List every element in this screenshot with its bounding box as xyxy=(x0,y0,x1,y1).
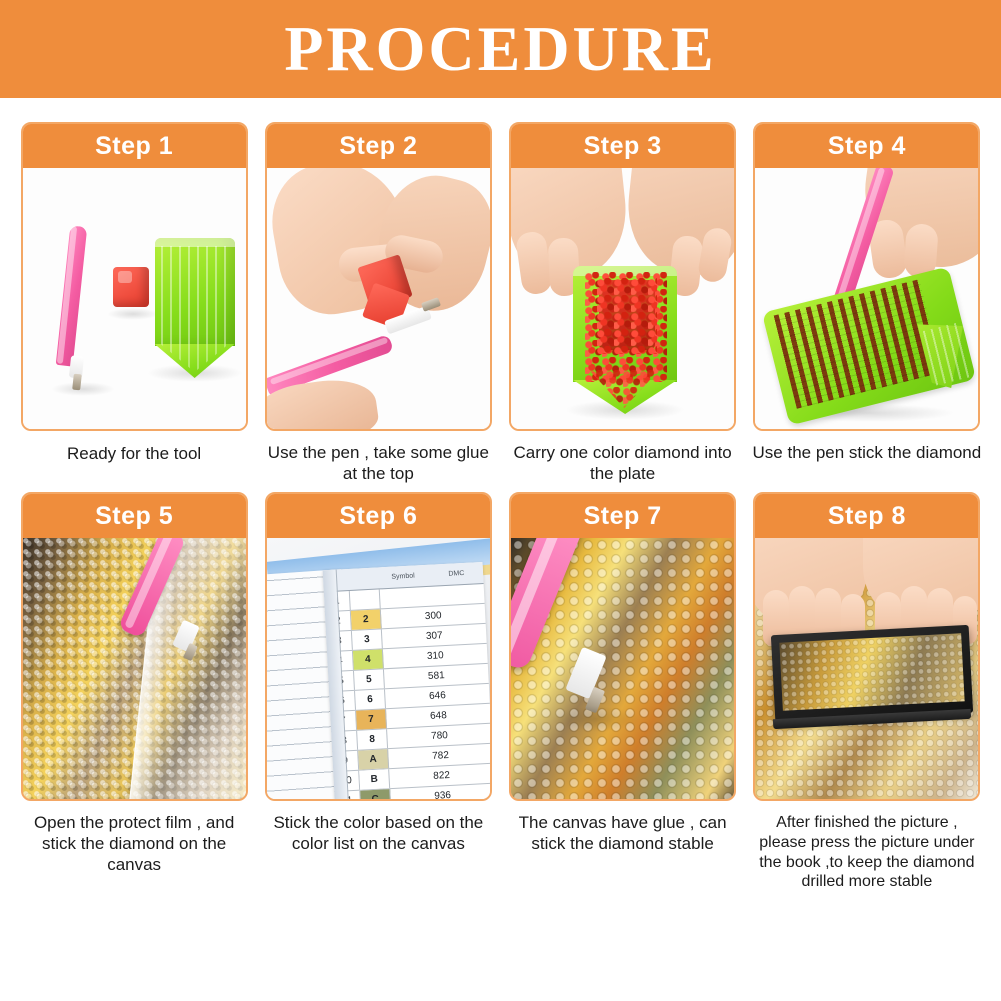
row-symbol: 3 xyxy=(352,630,383,651)
color-chart-rows: 1 2 2 300 3 3 xyxy=(324,584,490,799)
row-symbol: 2 xyxy=(351,610,382,631)
step-4-card: Step 4 xyxy=(753,122,980,431)
row-symbol xyxy=(350,590,381,611)
step-2-caption: Use the pen , take some glue at the top xyxy=(262,443,494,484)
step-8-title: Step 8 xyxy=(755,494,978,538)
page-title: PROCEDURE xyxy=(284,17,716,81)
step-card-3: Step 3 xyxy=(507,122,739,484)
row-symbol: 4 xyxy=(353,650,384,671)
header-banner: PROCEDURE xyxy=(0,0,1001,98)
row-symbol: B xyxy=(359,770,390,791)
step-8-card: Step 8 xyxy=(753,492,980,801)
step-card-7: Step 7 The canvas have glue , can stick … xyxy=(507,492,739,891)
step-5-illustration xyxy=(23,538,246,799)
steps-grid: Step 1 xyxy=(0,98,1001,892)
row-symbol: 5 xyxy=(354,670,385,691)
step-2-title: Step 2 xyxy=(267,124,490,168)
step-2-card: Step 2 xyxy=(265,122,492,431)
step-8-caption: After finished the picture , please pres… xyxy=(751,813,983,891)
step-3-title: Step 3 xyxy=(511,124,734,168)
step-5-caption: Open the protect film , and stick the di… xyxy=(18,813,250,875)
chart-col-2: DMC xyxy=(429,569,483,579)
step-5-card: Step 5 xyxy=(21,492,248,801)
step-4-caption: Use the pen stick the diamond xyxy=(751,443,983,464)
color-chart-table: Symbol DMC 1 2 2 xyxy=(323,562,490,799)
step-7-caption: The canvas have glue , can stick the dia… xyxy=(507,813,739,854)
step-card-1: Step 1 xyxy=(18,122,250,484)
step-4-title: Step 4 xyxy=(755,124,978,168)
row-symbol: C xyxy=(360,790,391,800)
step-3-caption: Carry one color diamond into the plate xyxy=(507,443,739,484)
step-7-card: Step 7 xyxy=(509,492,736,801)
chart-col-1: Symbol xyxy=(376,572,430,582)
step-card-4: Step 4 xyxy=(751,122,983,484)
step-1-title: Step 1 xyxy=(23,124,246,168)
step-3-card: Step 3 xyxy=(509,122,736,431)
step-8-illustration xyxy=(755,538,978,799)
row-symbol: 6 xyxy=(355,690,386,711)
row-symbol: 7 xyxy=(356,710,387,731)
step-card-2: Step 2 xyxy=(262,122,494,484)
step-card-8: Step 8 xyxy=(751,492,983,891)
step-2-illustration xyxy=(267,168,490,429)
step-7-illustration xyxy=(511,538,734,799)
row-symbol: 8 xyxy=(357,730,388,751)
step-6-title: Step 6 xyxy=(267,494,490,538)
step-3-illustration xyxy=(511,168,734,429)
step-1-card: Step 1 xyxy=(21,122,248,431)
row-symbol: A xyxy=(358,750,389,771)
step-4-illustration xyxy=(755,168,978,429)
step-1-illustration xyxy=(23,168,246,429)
step-6-card: Step 6 Symbol DMC xyxy=(265,492,492,801)
step-5-title: Step 5 xyxy=(23,494,246,538)
procedure-infographic: PROCEDURE Step 1 xyxy=(0,0,1001,1001)
step-1-caption: Ready for the tool xyxy=(18,443,250,465)
step-card-6: Step 6 Symbol DMC xyxy=(262,492,494,891)
step-6-illustration: Symbol DMC 1 2 2 xyxy=(267,538,490,799)
step-7-title: Step 7 xyxy=(511,494,734,538)
step-card-5: Step 5 Open the protect film , and stick… xyxy=(18,492,250,891)
step-6-caption: Stick the color based on the color list … xyxy=(262,813,494,854)
